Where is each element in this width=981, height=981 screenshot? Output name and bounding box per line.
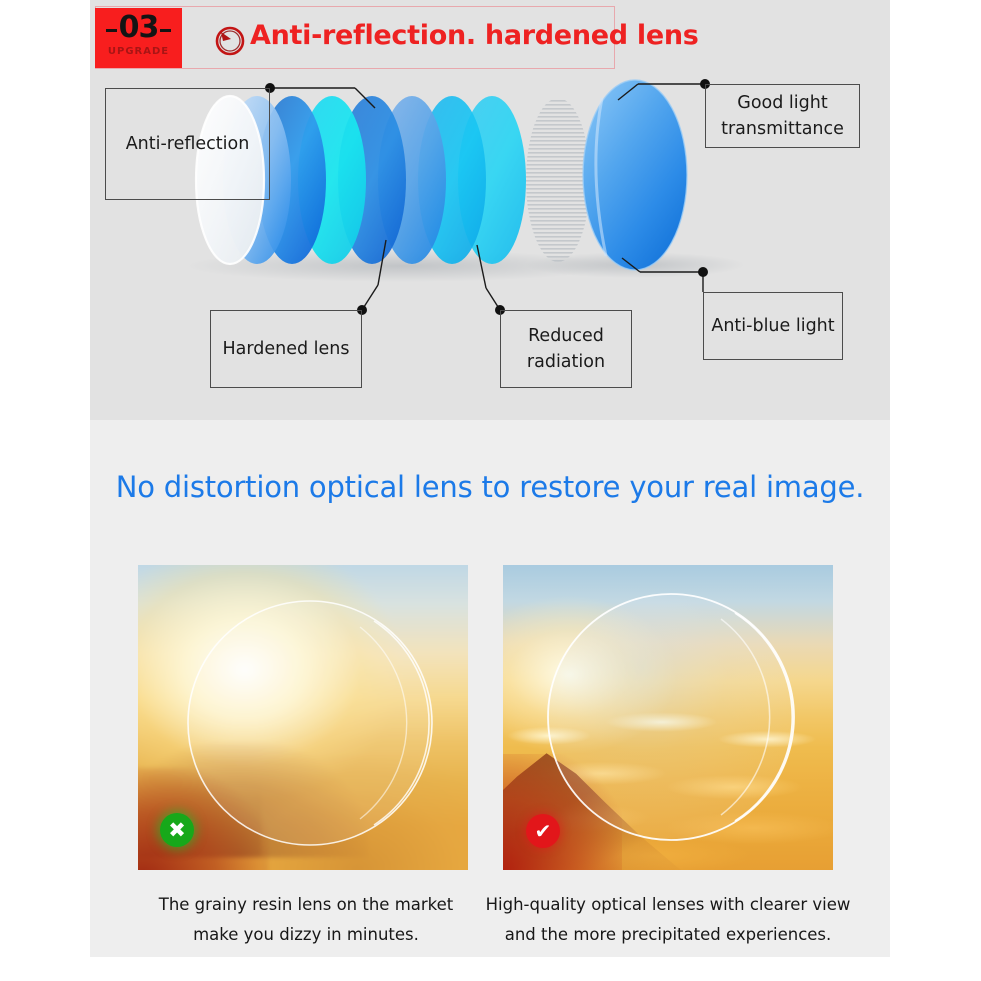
caption-right-line1: High-quality optical lenses with clearer… (468, 890, 868, 920)
callout-reduced-radiation-line2: radiation (521, 349, 611, 375)
caption-left-line2: make you dizzy in minutes. (106, 920, 506, 950)
callout-good-light-line1: Good light (715, 90, 850, 116)
banner-title: Anti-reflection. hardened lens (250, 20, 699, 51)
red-circle-brush-icon (212, 22, 248, 58)
callout-anti-blue-light: Anti-blue light (703, 292, 843, 360)
callout-reduced-radiation: Reduced radiation (500, 310, 632, 388)
callout-reduced-radiation-line1: Reduced (521, 323, 611, 349)
callout-hardened-lens: Hardened lens (210, 310, 362, 388)
caption-right-line2: and the more precipitated experiences. (468, 920, 868, 950)
callout-anti-reflection-line1: Anti-reflection (120, 131, 256, 157)
callout-anti-reflection: Anti-reflection (105, 88, 270, 200)
caption-right: High-quality optical lenses with clearer… (468, 890, 868, 950)
callout-hardened-lens-line1: Hardened lens (216, 336, 355, 362)
caption-left: The grainy resin lens on the market make… (106, 890, 506, 950)
page-headline: No distortion optical lens to restore yo… (90, 470, 890, 504)
callout-good-light-transmittance: Good light transmittance (705, 84, 860, 148)
upgrade-step-badge: 03 UPGRADE (95, 8, 182, 68)
product-infographic-page: Anti-reflection Good light transmittance… (0, 0, 981, 981)
badge-subtitle: UPGRADE (95, 46, 182, 57)
comparison-panel-right: ✔ (503, 565, 833, 870)
callout-anti-blue-light-line1: Anti-blue light (705, 313, 840, 339)
comparison-panel-left: ✖ (138, 565, 468, 870)
x-mark-badge: ✖ (160, 813, 194, 847)
badge-number: 03 (95, 12, 182, 44)
check-mark-badge: ✔ (526, 814, 560, 848)
callout-good-light-line2: transmittance (715, 116, 850, 142)
caption-left-line1: The grainy resin lens on the market (106, 890, 506, 920)
